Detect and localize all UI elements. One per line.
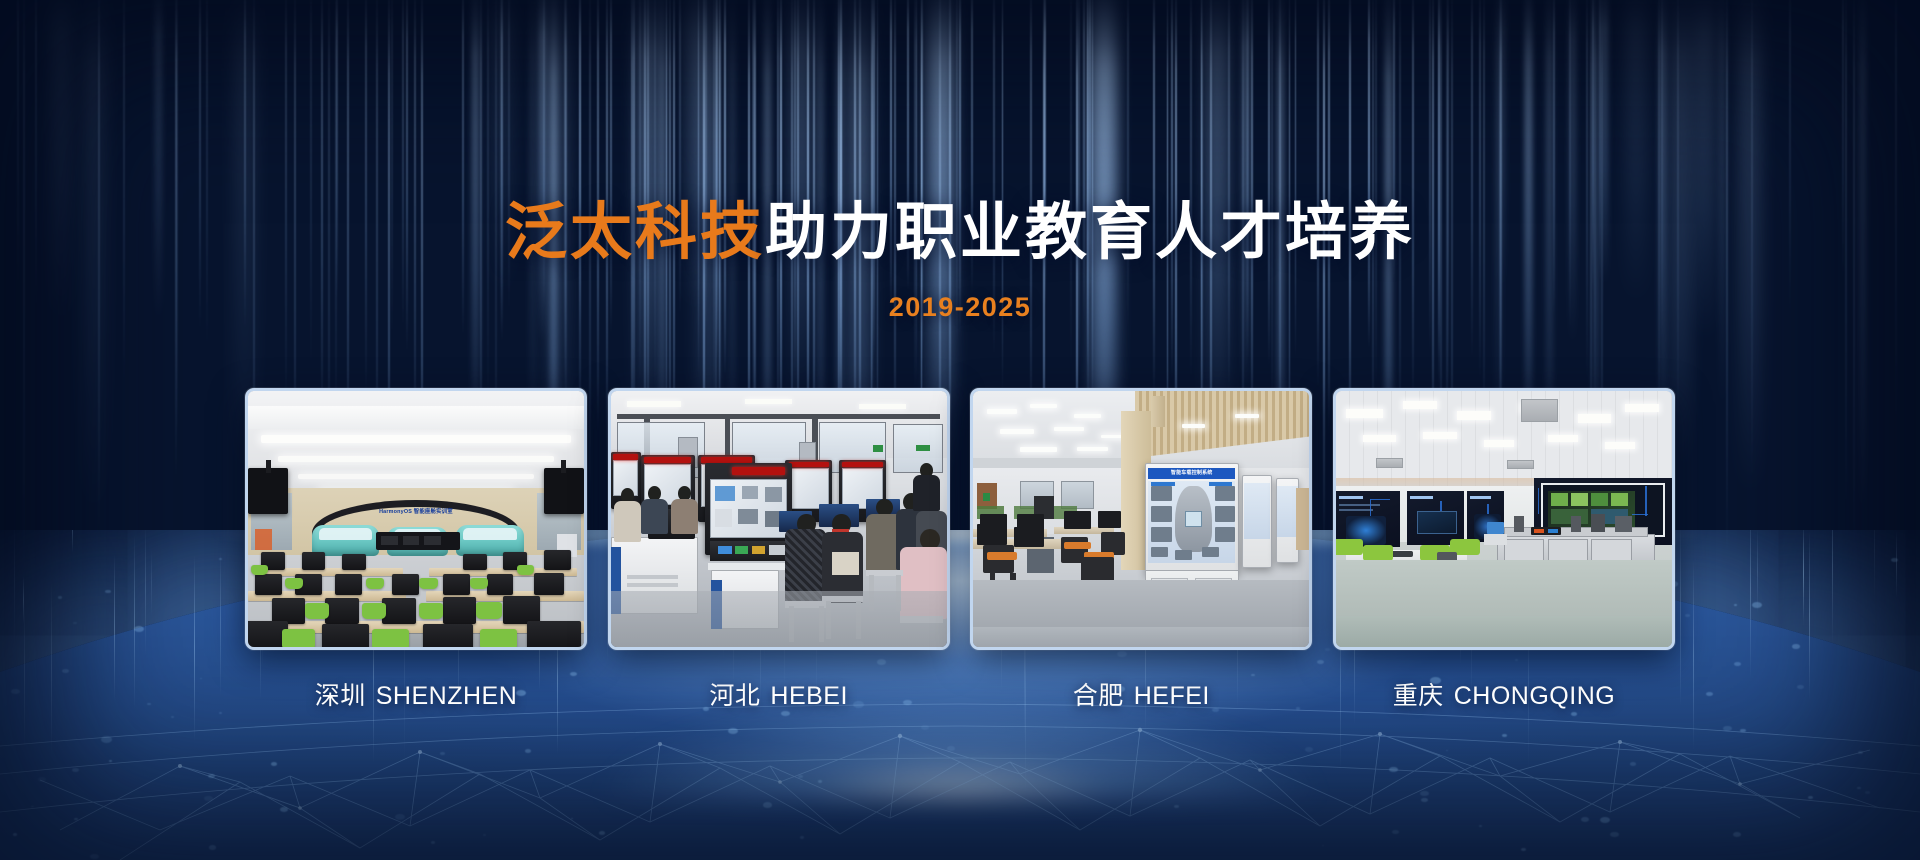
gallery-strip: HarmonyOS 智能座舱实训室 [245, 388, 1675, 712]
caption-en-hebei: HEBEI [770, 682, 848, 710]
photo-frame-hefei[interactable]: 智能车载控制系统 [970, 388, 1312, 650]
caption-chongqing: 重庆CHONGQING [1333, 676, 1675, 712]
page-title-brand: 泛太科技 [505, 198, 765, 267]
photo-shenzhen-classroom: HarmonyOS 智能座舱实训室 [248, 391, 584, 647]
gallery-card-hefei[interactable]: 智能车载控制系统 [970, 388, 1312, 712]
gallery-card-hebei[interactable]: 河北HEBEI [608, 388, 950, 712]
photo-hebei-workshop [611, 391, 947, 647]
photo-frame-shenzhen[interactable]: HarmonyOS 智能座舱实训室 [245, 388, 587, 650]
caption-cn-hefei: 合肥 [1073, 682, 1124, 710]
headline-block: 泛太科技助力职业教育人才培养 2019-2025 [0, 0, 1920, 323]
photo-frame-chongqing[interactable] [1333, 388, 1675, 650]
photo-chongqing-lab [1336, 391, 1672, 647]
gallery-card-shenzhen[interactable]: HarmonyOS 智能座舱实训室 [245, 388, 587, 712]
photo-frame-hebei[interactable] [608, 388, 950, 650]
gallery-card-chongqing[interactable]: 重庆CHONGQING [1333, 388, 1675, 712]
caption-en-shenzhen: SHENZHEN [376, 682, 518, 710]
photo-hefei-lab: 智能车载控制系统 [973, 391, 1309, 647]
page-title: 泛太科技助力职业教育人才培养 [0, 202, 1920, 264]
caption-cn-chongqing: 重庆 [1393, 682, 1444, 710]
caption-en-chongqing: CHONGQING [1454, 682, 1615, 710]
caption-cn-hebei: 河北 [709, 682, 760, 710]
caption-hefei: 合肥HEFEI [970, 676, 1312, 712]
caption-cn-shenzhen: 深圳 [315, 682, 366, 710]
caption-shenzhen: 深圳SHENZHEN [245, 676, 587, 712]
page-subtitle: 2019-2025 [0, 292, 1920, 323]
banner-stage: 泛太科技助力职业教育人才培养 2019-2025 [0, 0, 1920, 860]
photo-banner-text-1: HarmonyOS 智能座舱实训室 [312, 507, 520, 515]
caption-en-hefei: HEFEI [1134, 682, 1210, 710]
page-title-rest: 助力职业教育人才培养 [765, 198, 1415, 267]
photo-banner-text-3: 智能车载控制系统 [1148, 468, 1235, 479]
caption-hebei: 河北HEBEI [608, 676, 950, 712]
